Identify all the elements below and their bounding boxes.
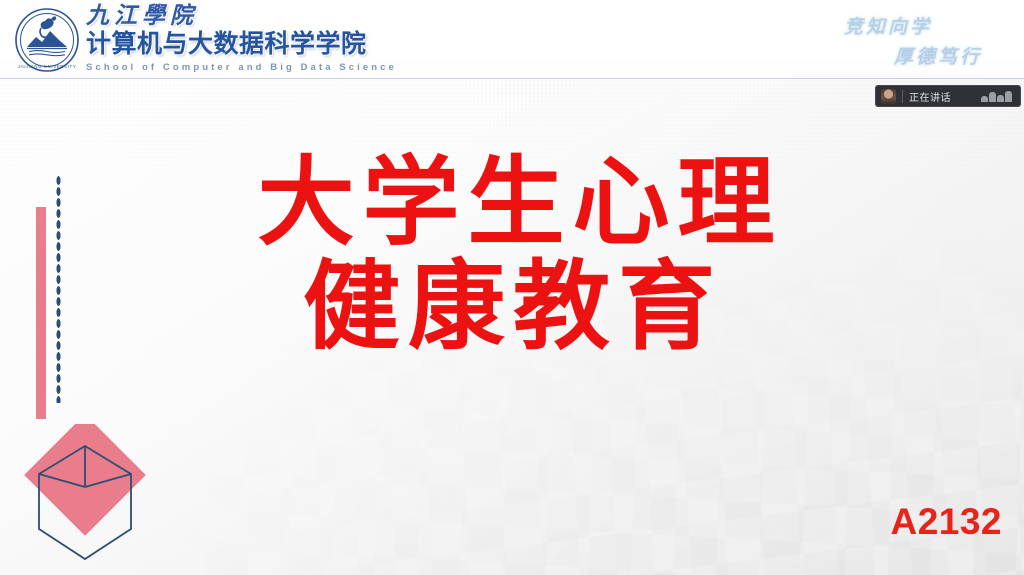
header-divider (0, 76, 1024, 77)
university-name-cn: 九江學院 (86, 4, 397, 27)
speakbar-separator (902, 90, 903, 103)
speaking-status-label: 正在讲话 (909, 89, 951, 104)
university-seal-icon: JIUJIANG UNIVERSITY (14, 7, 80, 73)
school-name-en: School of Computer and Big Data Science (86, 63, 397, 73)
title-line-1: 大学生心理 (8, 152, 1024, 256)
school-name-cn: 计算机与大数据科学学院 (86, 32, 397, 57)
motto-line-2: 厚德笃行 (894, 42, 982, 69)
audio-wave-icon (981, 91, 1012, 102)
speaking-indicator-bar[interactable]: 正在讲话 (875, 85, 1021, 107)
slide-title: 大学生心理 健康教育 (0, 152, 1024, 360)
svg-text:JIUJIANG UNIVERSITY: JIUJIANG UNIVERSITY (18, 64, 76, 69)
cube-diamond-decor-group (24, 424, 146, 570)
title-line-2: 健康教育 (0, 256, 1024, 360)
slide-header: JIUJIANG UNIVERSITY 九江學院 计算机与大数据科学学院 Sch… (0, 0, 1024, 79)
slide-canvas: JIUJIANG UNIVERSITY 九江學院 计算机与大数据科学学院 Sch… (0, 0, 1024, 575)
university-motto: 竞知向学 厚德笃行 (802, 6, 1012, 72)
motto-line-1: 竞知向学 (844, 12, 932, 39)
participant-avatar-icon (881, 89, 896, 104)
room-code-label: A2132 (890, 501, 1002, 543)
brand-text-group: 九江學院 计算机与大数据科学学院 School of Computer and … (86, 4, 397, 73)
